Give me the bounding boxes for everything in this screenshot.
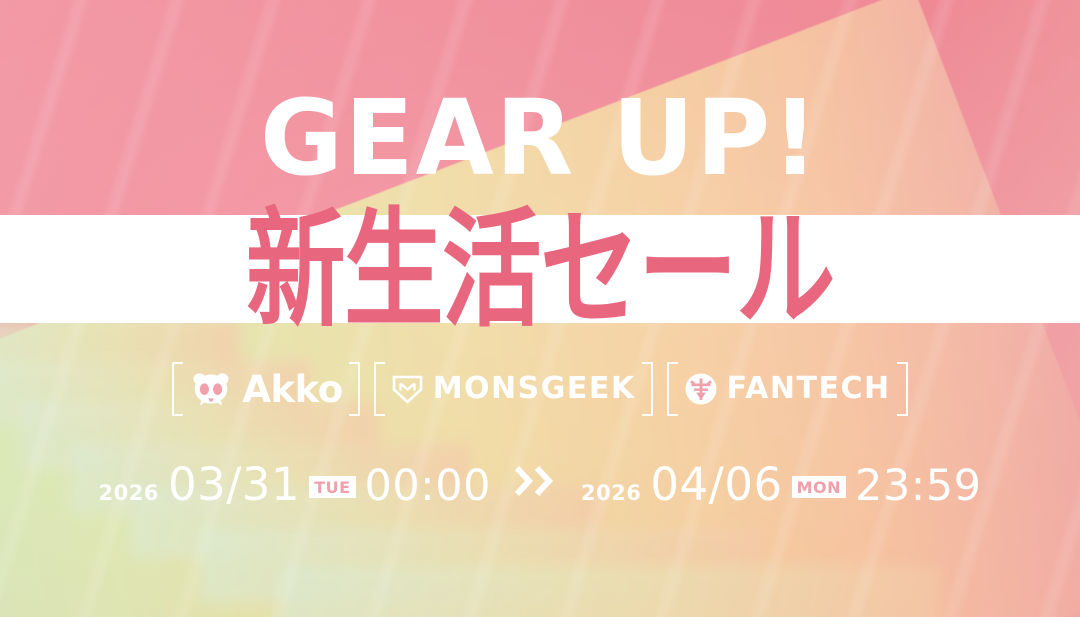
headline-svg: GEAR UP! <box>254 96 826 192</box>
brand-logo-row: Akko MONSGEEK FANTECH <box>0 362 1080 416</box>
start-year: 2026 <box>99 481 159 505</box>
headline: GEAR UP! <box>0 96 1080 197</box>
end-month-day: 04/06 <box>650 462 782 507</box>
start-month-day: 03/31 <box>168 462 300 507</box>
brand-monsgeek-label: MONSGEEK <box>433 374 636 404</box>
fantech-crest-icon <box>684 372 718 406</box>
brand-fantech-label: FANTECH <box>727 374 891 404</box>
end-weekday-badge: MON <box>792 476 846 498</box>
end-time: 23:59 <box>855 465 981 508</box>
brand-monsgeek[interactable]: MONSGEEK <box>374 362 653 416</box>
double-chevron-right-icon <box>513 464 559 498</box>
end-year: 2026 <box>581 481 641 505</box>
start-time: 00:00 <box>365 465 491 508</box>
white-band <box>0 215 1080 323</box>
start-weekday-badge: TUE <box>309 476 355 498</box>
promo-banner: GEAR UP! 新生活セール Akko <box>0 0 1080 617</box>
akko-skull-icon <box>189 370 233 408</box>
monsgeek-m-icon <box>391 373 424 406</box>
sale-end: 2026 04/06 MON 23:59 <box>581 462 981 508</box>
sale-period: 2026 03/31 TUE 00:00 2026 04/06 MON 23:5… <box>0 462 1080 508</box>
brand-akko[interactable]: Akko <box>172 362 359 416</box>
date-range-separator <box>513 464 559 498</box>
brand-akko-label: Akko <box>242 371 342 408</box>
headline-text: GEAR UP! <box>260 77 820 199</box>
sale-start: 2026 03/31 TUE 00:00 <box>99 462 491 508</box>
brand-fantech[interactable]: FANTECH <box>667 362 908 416</box>
